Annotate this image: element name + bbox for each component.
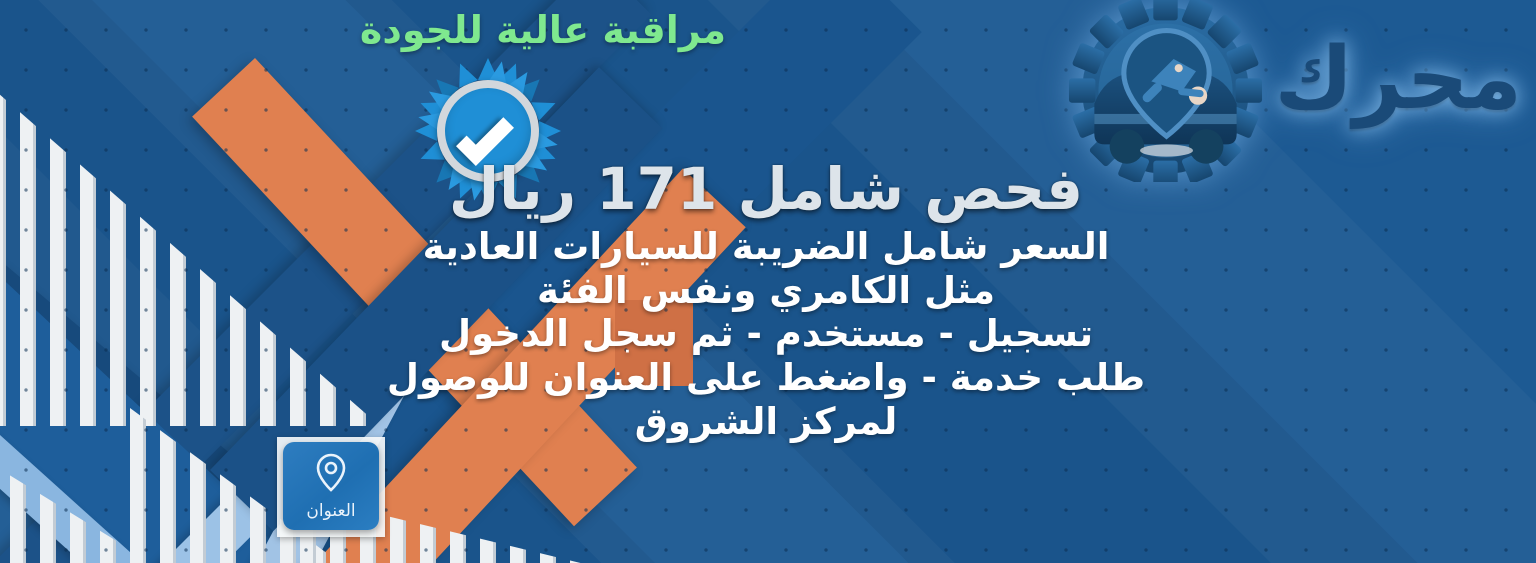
copy-line-5: لمركز الشروق [326,400,1206,444]
quality-tagline: مراقبة عالية للجودة [360,8,726,52]
promo-banner: محرك [0,0,1536,563]
address-button[interactable]: العنوان [283,442,379,530]
copy-line-2: مثل الكامري ونفس الفئة [326,269,1206,313]
location-pin-icon [313,452,349,498]
copy-line-4: طلب خدمة - واضغط على العنوان للوصول [326,356,1206,400]
promo-copy: فحص شامل 171 ريال السعر شامل الضريبة للس… [326,160,1206,443]
copy-line-1: السعر شامل الضريبة للسيارات العادية [326,225,1206,269]
page-title: فحص شامل 171 ريال [326,160,1206,219]
brand-logo-wordmark: محرك [1274,36,1522,144]
gear-car-pin-logo-icon [1063,0,1268,186]
address-button-label: العنوان [306,503,355,520]
brand-logo[interactable]: محرك [1063,0,1522,186]
copy-line-3: تسجيل - مستخدم - ثم سجل الدخول [326,312,1206,356]
